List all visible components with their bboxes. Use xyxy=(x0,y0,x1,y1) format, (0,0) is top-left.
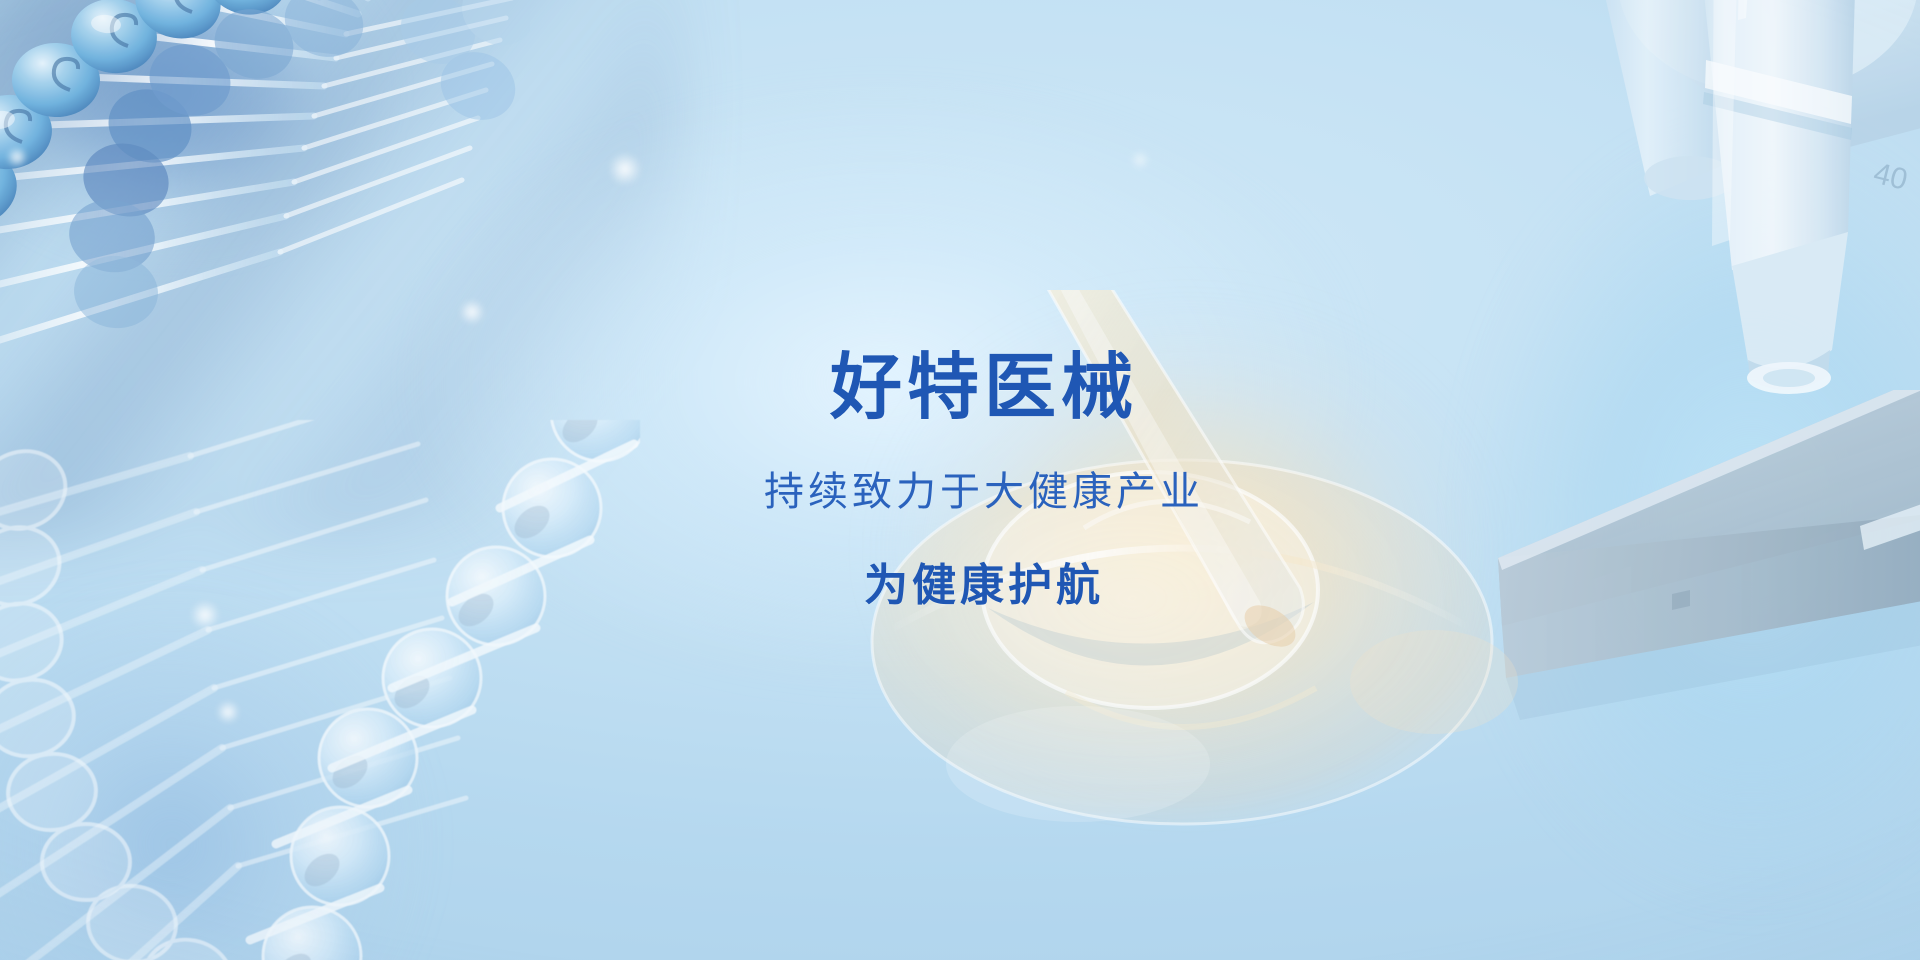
hero-tagline: 为健康护航 xyxy=(864,564,1104,608)
hero-banner: 40 / xyxy=(0,0,1920,960)
page-title: 好特医械 xyxy=(830,352,1138,424)
hero-subtitle: 持续致力于大健康产业 xyxy=(764,472,1204,512)
